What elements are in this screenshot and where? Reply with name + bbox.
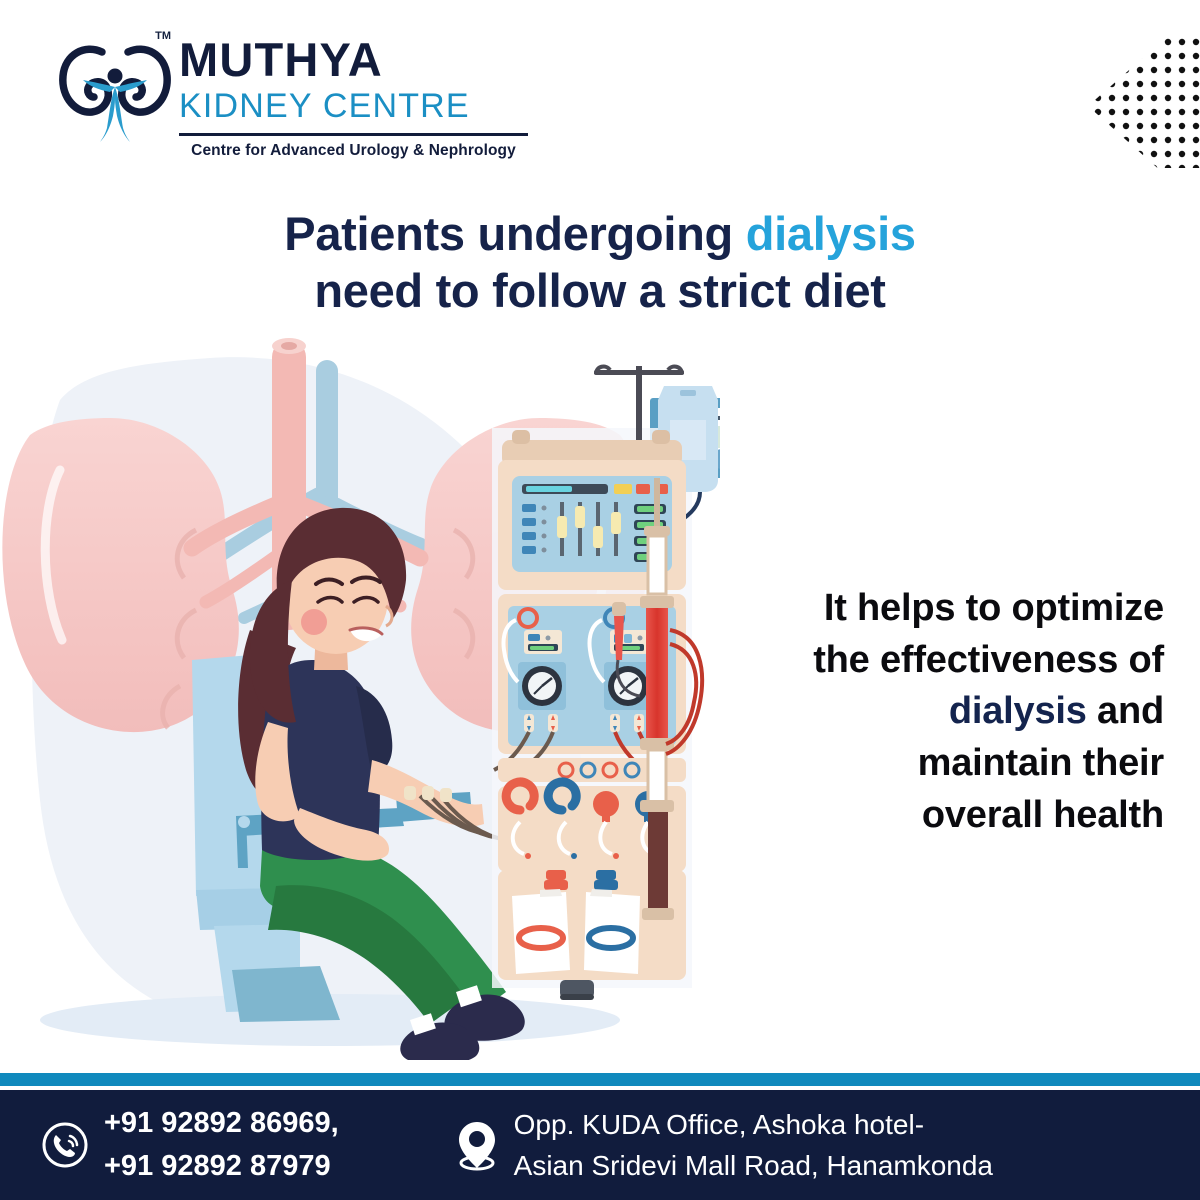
headline-accent-word: dialysis: [746, 207, 916, 260]
address-line-1: Opp. KUDA Office, Ashoka hotel-: [514, 1104, 993, 1145]
location-pin-icon: [454, 1118, 500, 1172]
body-line-2: the effectiveness of: [664, 635, 1164, 687]
brand-logo: TM MUTHYA KIDNEY CENTRE Centre for Advan…: [55, 24, 528, 160]
body-line-5: overall health: [664, 790, 1164, 842]
brand-tagline: Centre for Advanced Urology & Nephrology: [179, 142, 528, 160]
phone-line-2[interactable]: +91 92892 87979: [104, 1145, 339, 1188]
contact-footer: +91 92892 86969, +91 92892 87979 Opp. KU…: [0, 1090, 1200, 1200]
headline-line-1: Patients undergoing dialysis: [0, 205, 1200, 262]
headline-line-1-text: Patients undergoing: [284, 207, 745, 260]
footer-phone-block: +91 92892 86969, +91 92892 87979: [40, 1102, 339, 1188]
trademark-symbol: TM: [155, 30, 171, 42]
brand-subtitle: KIDNEY CENTRE: [179, 86, 528, 127]
dialysis-illustration: [0, 330, 720, 1060]
headline-line-2: need to follow a strict diet: [0, 262, 1200, 319]
body-accent-word: dialysis: [949, 690, 1087, 732]
arm-connectors: [404, 786, 452, 802]
brand-name: MUTHYA: [179, 36, 528, 84]
phone-call-icon: [40, 1120, 90, 1170]
address-line-2: Asian Sridevi Mall Road, Hanamkonda: [514, 1145, 993, 1186]
body-line-4: maintain their: [664, 738, 1164, 790]
kidney-logo-icon: TM: [55, 24, 175, 144]
accent-strip: [0, 1073, 1200, 1086]
headline: Patients undergoing dialysis need to fol…: [0, 205, 1200, 320]
phone-line-1[interactable]: +91 92892 86969,: [104, 1102, 339, 1145]
footer-address-block: Opp. KUDA Office, Ashoka hotel- Asian Sr…: [454, 1104, 993, 1187]
body-copy: It helps to optimize the effectiveness o…: [664, 583, 1164, 841]
body-line-3-tail: and: [1087, 690, 1164, 732]
body-line-3: dialysis and: [664, 686, 1164, 738]
body-line-1: It helps to optimize: [664, 583, 1164, 635]
logo-divider: [179, 133, 528, 136]
dot-pattern-decoration: [1080, 38, 1200, 168]
